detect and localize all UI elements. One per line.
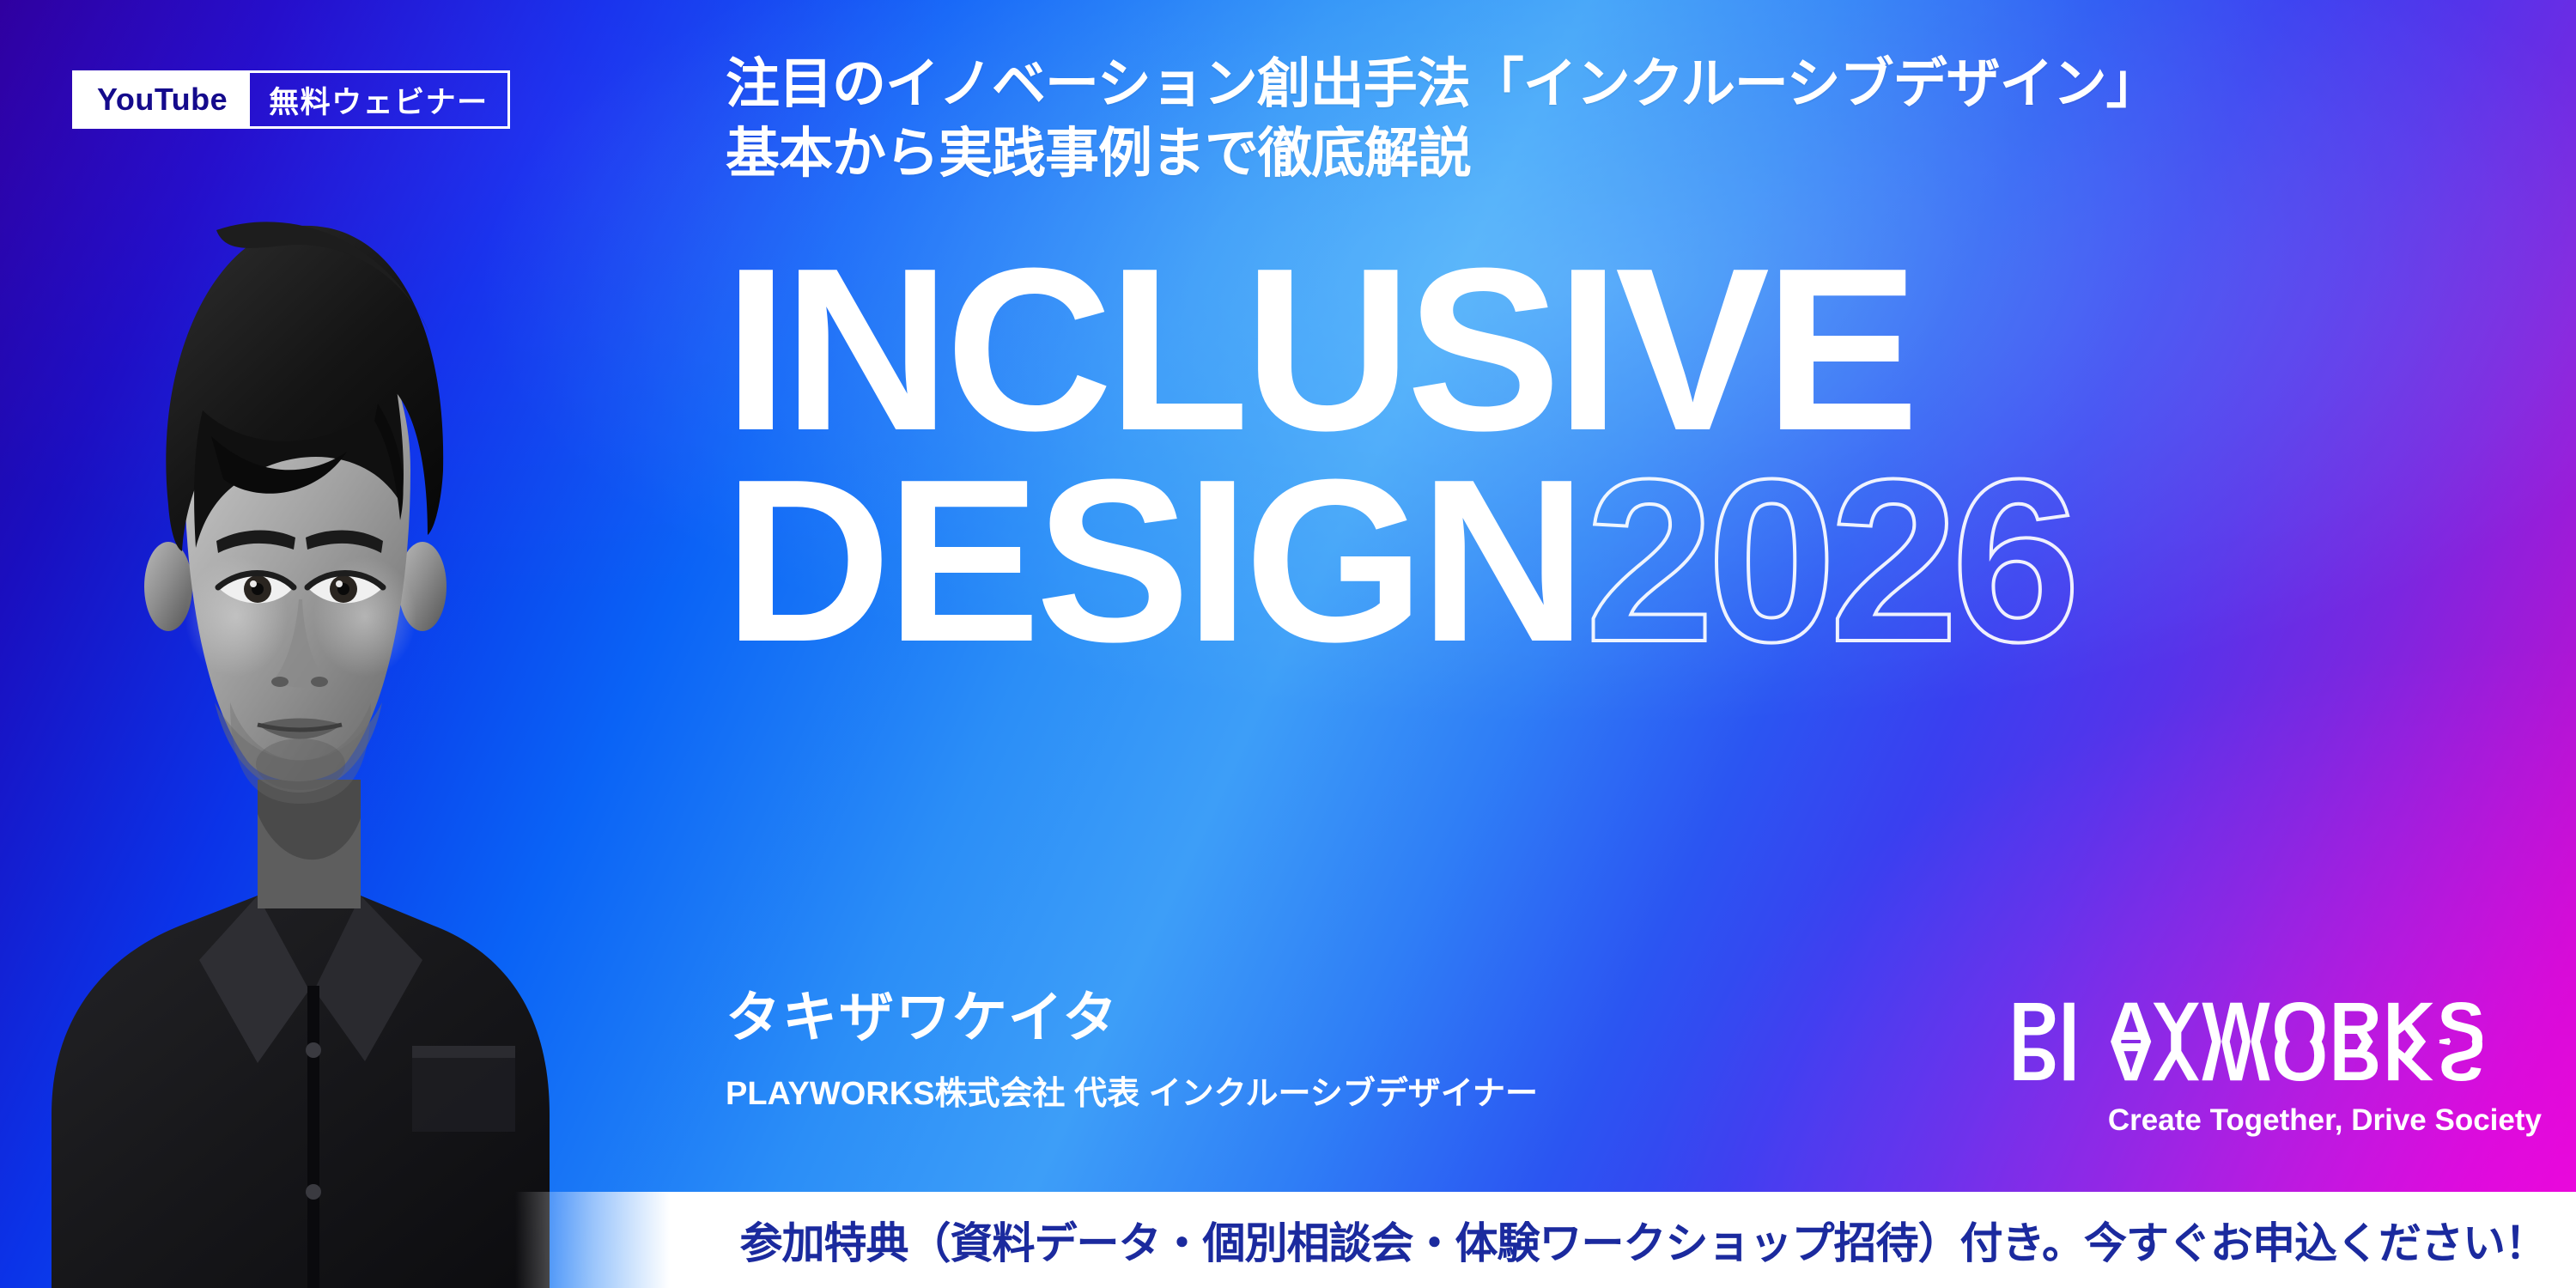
playworks-wordmark-text-bottom: PLAYWORKS: [2009, 1042, 2542, 1091]
speaker-title: PLAYWORKS株式会社 代表 インクルーシブデザイナー: [726, 1066, 1538, 1114]
speaker-photo: [0, 101, 550, 1288]
headline: 注目のイノベーション創出手法「インクルーシブデザイン」 基本から実践事例まで徹底…: [726, 50, 2160, 188]
playworks-wordmark-mirrored-half: PLAYWORKS: [2009, 1042, 2542, 1095]
speaker-info: タキザワケイタ PLAYWORKS株式会社 代表 インクルーシブデザイナー: [726, 987, 1538, 1114]
playworks-wordmark: PLAYWORKS PLAYWORKS: [2009, 992, 2542, 1095]
page-title: INCLUSIVE DESIGN2026: [724, 251, 2074, 661]
title-line-inclusive: INCLUSIVE: [724, 251, 2074, 450]
speaker-name: タキザワケイタ: [726, 987, 1538, 1048]
webinar-banner: YouTube 無料ウェビナー 注目のイノベーション創出手法「インクルーシブデザ…: [0, 0, 2576, 1288]
title-line-design-row: DESIGN2026: [724, 462, 2074, 661]
speaker-portrait-illustration: [0, 101, 550, 1288]
playworks-logo: PLAYWORKS PLAYWORKS Create Together, Dri…: [2009, 992, 2542, 1138]
title-line-design: DESIGN: [724, 432, 1582, 690]
headline-line-2: 基本から実践事例まで徹底解説: [726, 119, 2160, 189]
title-year: 2026: [1585, 432, 2074, 690]
playworks-wordmark-top-half: PLAYWORKS: [2009, 992, 2542, 1042]
headline-line-1: 注目のイノベーション創出手法「インクルーシブデザイン」: [726, 50, 2160, 119]
webinar-badge: YouTube 無料ウェビナー: [72, 70, 510, 129]
badge-type-label: 無料ウェビナー: [250, 73, 507, 126]
playworks-tagline: Create Together, Drive Society: [2009, 1103, 2542, 1138]
playworks-wordmark-text-top: PLAYWORKS: [2009, 992, 2542, 1042]
footer-cta-text: 参加特典（資料データ・個別相談会・体験ワークショップ招待）付き。今すぐお申込くだ…: [0, 1192, 2576, 1288]
badge-platform-label: YouTube: [75, 73, 250, 126]
